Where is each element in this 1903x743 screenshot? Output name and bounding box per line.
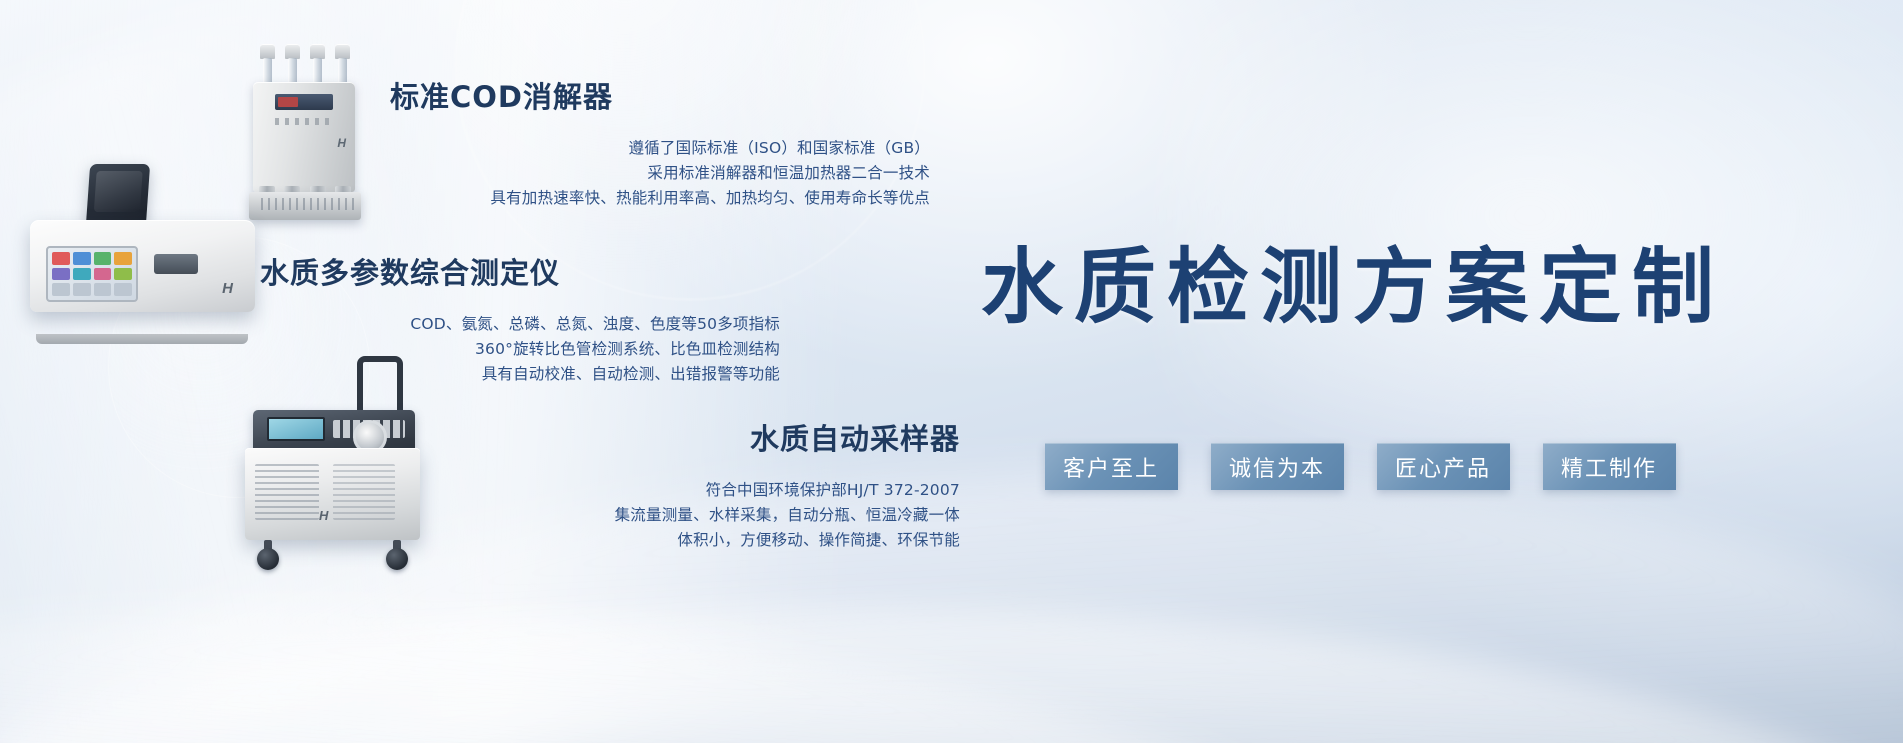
analyzer-touchscreen: [46, 246, 138, 302]
cod-digester-photo: H: [150, 34, 270, 214]
product-title: 水质多参数综合测定仪: [260, 250, 780, 292]
brand-mark-icon: H: [222, 280, 233, 297]
digester-vents: [261, 198, 357, 210]
banner-headline: 水质检测方案定制: [838, 240, 1868, 336]
digester-base: [249, 192, 361, 220]
multiparameter-analyzer-photo: H: [30, 212, 255, 337]
sampler-cabinet: H: [245, 448, 420, 540]
value-badge-group: 客户至上 诚信为本 匠心产品 精工制作: [850, 443, 1870, 490]
sampler-display: [267, 417, 325, 441]
digester-body: H: [253, 82, 355, 192]
description-line: COD、氨氮、总磷、总氮、浊度、色度等50多项指标: [260, 312, 780, 337]
sampler-wheel: [386, 548, 408, 570]
banner-right-column: 水质检测方案定制 客户至上 诚信为本 匠心产品 精工制作: [838, 0, 1903, 743]
sampler-wheel: [257, 548, 279, 570]
brand-mark-icon: H: [319, 508, 328, 523]
promo-banner: H 标准COD消解器 遵循了国际标准（ISO）和国家标准（GB） 采用标准消解器…: [0, 0, 1903, 743]
product-feature-list: H 标准COD消解器 遵循了国际标准（ISO）和国家标准（GB） 采用标准消解器…: [0, 0, 940, 743]
analyzer-chassis: H: [30, 220, 255, 312]
analyzer-cuvette-port: [154, 254, 198, 274]
sampler-handle: [357, 356, 403, 416]
product-text-multiparameter-analyzer: 水质多参数综合测定仪 COD、氨氮、总磷、总氮、浊度、色度等50多项指标 360…: [260, 250, 780, 387]
value-badge-craftsmanship[interactable]: 匠心产品: [1377, 443, 1510, 490]
value-badge-integrity[interactable]: 诚信为本: [1211, 443, 1344, 490]
digester-display-panel: [275, 94, 333, 110]
value-badge-customer-first[interactable]: 客户至上: [1045, 443, 1178, 490]
auto-sampler-photo: H: [215, 398, 390, 558]
sampler-control-head: [253, 410, 415, 450]
brand-mark-icon: H: [337, 136, 346, 150]
product-description: COD、氨氮、总磷、总氮、浊度、色度等50多项指标 360°旋转比色管检测系统、…: [260, 312, 780, 387]
value-badge-fine-production[interactable]: 精工制作: [1543, 443, 1676, 490]
analyzer-base: [36, 334, 248, 344]
digester-knobs: [275, 118, 333, 125]
description-line: 具有自动校准、自动检测、出错报警等功能: [260, 362, 780, 387]
description-line: 360°旋转比色管检测系统、比色皿检测结构: [260, 337, 780, 362]
analyzer-lid: [86, 164, 150, 226]
